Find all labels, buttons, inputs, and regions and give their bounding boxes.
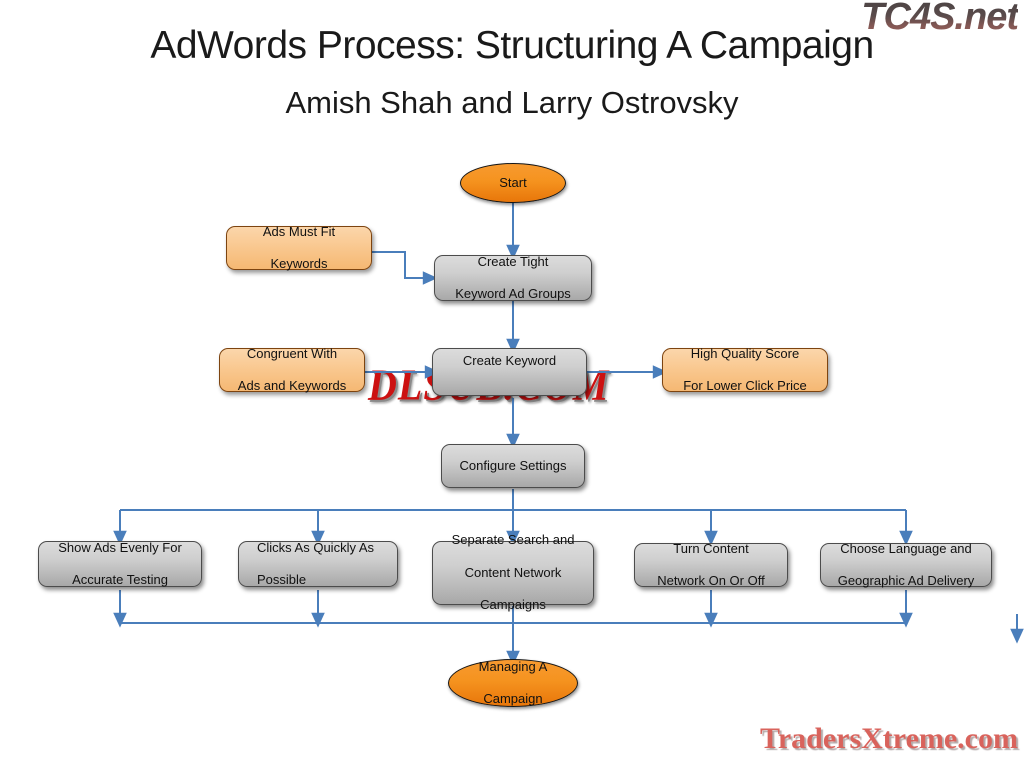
node-show-ads-evenly[interactable]: Show Ads Evenly For Accurate Testing (38, 541, 202, 587)
node-managing-a-campaign-label: Managing A Campaign (467, 659, 560, 708)
line-1: High Quality Score (677, 346, 813, 362)
node-create-keyword[interactable]: Create Keyword (432, 348, 587, 396)
node-managing-a-campaign[interactable]: Managing A Campaign (448, 659, 578, 707)
line-1: Show Ads Evenly For (52, 540, 188, 556)
node-create-tight-keyword-ad-groups-label: Create Tight Keyword Ad Groups (443, 254, 583, 303)
node-turn-content-network-on-or-off-label: Turn Content Network On Or Off (645, 541, 776, 590)
line-2: Possible (251, 572, 380, 588)
line-1: Create Tight (449, 254, 577, 270)
node-congruent-with-ads-and-keywords-label: Congruent With Ads and Keywords (226, 346, 358, 395)
node-start[interactable]: Start (460, 163, 566, 203)
line-2: Content Network (446, 565, 581, 581)
line-1: Create Keyword (457, 353, 562, 369)
node-configure-settings-label: Configure Settings (454, 458, 573, 474)
node-ads-must-fit-keywords[interactable]: Ads Must Fit Keywords (226, 226, 372, 270)
line-1: Choose Language and (832, 541, 981, 557)
line-1: Managing A (473, 659, 554, 675)
line-1: Ads Must Fit (257, 224, 341, 240)
slide-canvas: AdWords Process: Structuring A Campaign … (0, 0, 1024, 768)
node-choose-language-geographic-delivery[interactable]: Choose Language and Geographic Ad Delive… (820, 543, 992, 587)
line-1: Congruent With (232, 346, 352, 362)
node-choose-language-geographic-delivery-label: Choose Language and Geographic Ad Delive… (826, 541, 987, 590)
line-2: Ads and Keywords (232, 378, 352, 394)
node-create-keyword-label: Create Keyword (451, 353, 568, 386)
node-configure-settings[interactable]: Configure Settings (441, 444, 585, 488)
line-2: Keywords (257, 256, 341, 272)
node-congruent-with-ads-and-keywords[interactable]: Congruent With Ads and Keywords (219, 348, 365, 392)
node-clicks-as-quickly-as-possible-label: Clicks As Quickly As Possible (239, 540, 386, 589)
node-separate-search-content-network[interactable]: Separate Search and Content Network Camp… (432, 541, 594, 605)
node-turn-content-network-on-or-off[interactable]: Turn Content Network On Or Off (634, 543, 788, 587)
line-1: Clicks As Quickly As (251, 540, 380, 556)
line-2: Keyword Ad Groups (449, 286, 577, 302)
line-2: Accurate Testing (52, 572, 188, 588)
line-2: Campaign (473, 691, 554, 707)
node-clicks-as-quickly-as-possible[interactable]: Clicks As Quickly As Possible (238, 541, 398, 587)
node-separate-search-content-network-label: Separate Search and Content Network Camp… (440, 532, 587, 613)
line-2: Geographic Ad Delivery (832, 573, 981, 589)
node-start-label: Start (493, 175, 532, 191)
node-high-quality-score-label: High Quality Score For Lower Click Price (671, 346, 819, 395)
line-2: Network On Or Off (651, 573, 770, 589)
line-1: Turn Content (651, 541, 770, 557)
line-2: For Lower Click Price (677, 378, 813, 394)
line-3: Campaigns (446, 597, 581, 613)
node-ads-must-fit-keywords-label: Ads Must Fit Keywords (251, 224, 347, 273)
node-show-ads-evenly-label: Show Ads Evenly For Accurate Testing (46, 540, 194, 589)
line-1: Separate Search and (446, 532, 581, 548)
edge-adsfit-to-tight (372, 252, 430, 278)
node-high-quality-score[interactable]: High Quality Score For Lower Click Price (662, 348, 828, 392)
node-create-tight-keyword-ad-groups[interactable]: Create Tight Keyword Ad Groups (434, 255, 592, 301)
